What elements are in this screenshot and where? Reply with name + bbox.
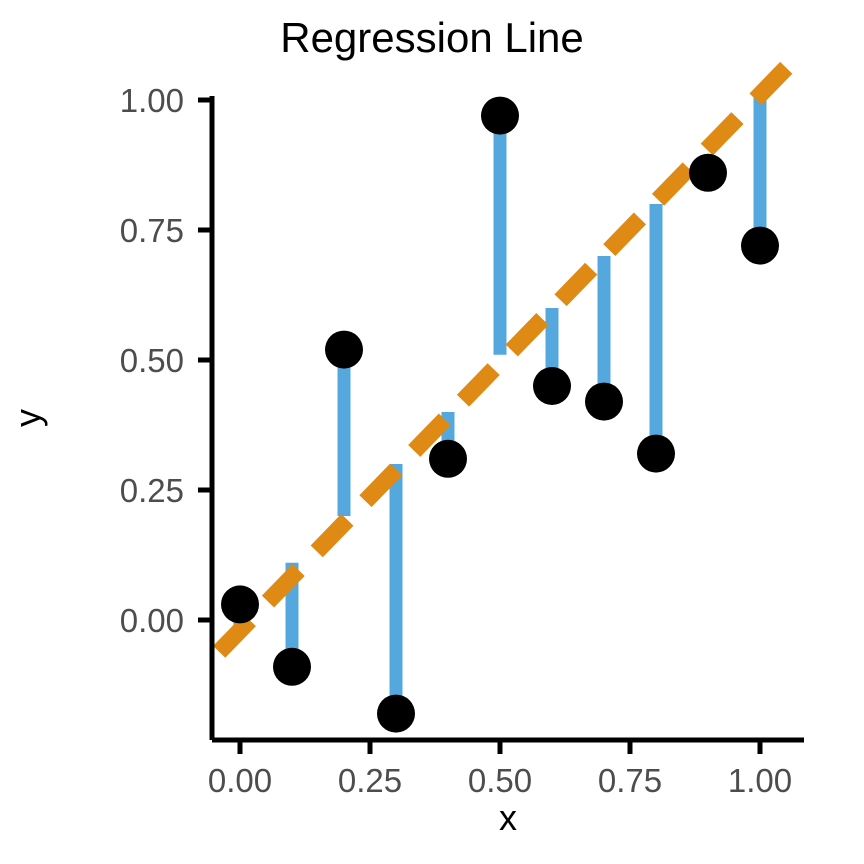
x-tick-label: 0.25 (338, 762, 402, 799)
x-tick-label: 0.75 (598, 762, 662, 799)
data-point (273, 648, 311, 686)
data-point (429, 440, 467, 478)
x-tick-label: 1.00 (728, 762, 792, 799)
residual-segments-layer (240, 95, 760, 714)
x-tick-label: 0.00 (208, 762, 272, 799)
regression-plot: 0.000.250.500.751.00 0.000.250.500.751.0… (0, 0, 864, 864)
x-axis-ticks: 0.000.250.500.751.00 (208, 740, 792, 799)
data-point (637, 435, 675, 473)
data-point (481, 97, 519, 135)
y-tick-label: 0.25 (120, 472, 184, 509)
y-tick-label: 0.75 (120, 212, 184, 249)
data-point (585, 383, 623, 421)
y-tick-label: 0.50 (120, 342, 184, 379)
y-tick-label: 1.00 (120, 82, 184, 119)
x-tick-label: 0.50 (468, 762, 532, 799)
data-point (325, 331, 363, 369)
data-point (689, 154, 727, 192)
data-point (533, 367, 571, 405)
x-axis-title: x (499, 797, 517, 838)
data-point (741, 227, 779, 265)
y-axis-ticks: 0.000.250.500.751.00 (120, 82, 212, 639)
axes-layer (212, 96, 804, 740)
data-point (377, 695, 415, 733)
chart-page: Regression Line 0.000.250.500.751.00 0.0… (0, 0, 864, 864)
data-point (221, 585, 259, 623)
y-axis-title: y (7, 409, 48, 427)
y-tick-label: 0.00 (120, 602, 184, 639)
